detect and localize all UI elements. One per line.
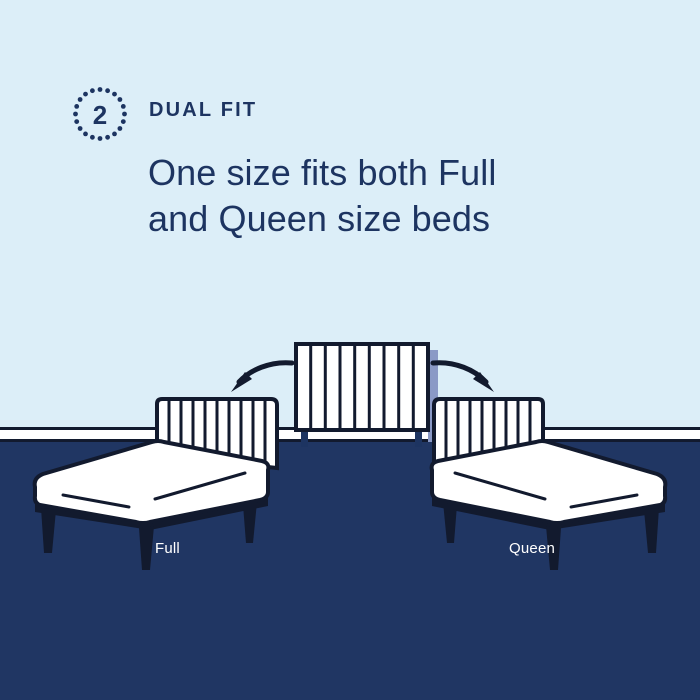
full-bed-leg-front-center — [139, 526, 154, 570]
queen-bed-caption: Queen — [509, 540, 555, 557]
center-headboard — [296, 344, 438, 447]
headboard-panel — [296, 344, 428, 430]
arrow-to-queen — [433, 363, 494, 392]
full-bed-leg-front-left — [41, 508, 56, 553]
queen-bed-leg-back-left — [443, 502, 457, 543]
infographic-scene: 2 DUAL FIT One size fits both Full and Q… — [0, 0, 700, 700]
queen-bed-leg-front-right — [644, 508, 659, 553]
arrow-to-full — [231, 363, 292, 392]
full-bed-caption: Full — [155, 540, 180, 557]
bed-illustration — [0, 0, 700, 700]
full-bed-leg-back-right — [243, 502, 257, 543]
